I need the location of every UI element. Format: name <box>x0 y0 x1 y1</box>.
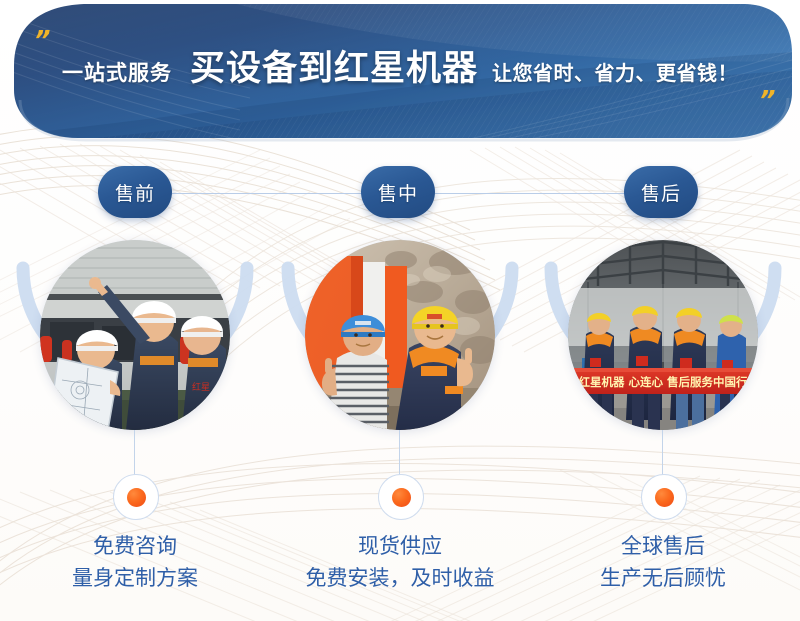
insale-photo-illustration <box>305 240 495 430</box>
insale-caption-line2: 免费安装，及时收益 <box>270 562 530 594</box>
service-card-aftersale: 红星机器 心连心 售后服务中国行 全球售后 生产无后顾忧 <box>533 220 793 620</box>
promo-page: 一站式服务 买设备到红星机器 让您省时、省力、更省钱！ ” ” 售前 售中 售后 <box>0 0 800 621</box>
banner-tail-text: 让您省时、省力、更省钱！ <box>492 57 738 86</box>
aftersale-caption: 全球售后 生产无后顾忧 <box>533 530 793 594</box>
aftersale-dot-marker <box>641 474 687 520</box>
step-badge-presale-label: 售前 <box>115 179 155 206</box>
insale-dot-marker <box>378 474 424 520</box>
step-badge-insale[interactable]: 售中 <box>361 166 435 218</box>
svg-text:红星: 红星 <box>192 381 210 393</box>
insale-caption-line1: 现货供应 <box>270 530 530 562</box>
orange-dot-icon <box>127 488 146 507</box>
insale-photo <box>305 240 495 430</box>
step-connector-2 <box>435 193 625 194</box>
orange-dot-icon <box>655 488 674 507</box>
banner-lead-text: 一站式服务 <box>62 57 172 87</box>
banner-slogan-text: 红星机器 心连心 售后服务中国行 <box>578 375 748 389</box>
presale-caption: 免费咨询 量身定制方案 <box>5 530 265 594</box>
presale-caption-line2: 量身定制方案 <box>5 562 265 594</box>
step-badge-aftersale-label: 售后 <box>641 179 681 206</box>
presale-photo-illustration: 红星 <box>40 240 230 430</box>
insale-caption: 现货供应 免费安装，及时收益 <box>270 530 530 594</box>
step-badge-presale[interactable]: 售前 <box>98 166 172 218</box>
step-connector-1 <box>172 193 362 194</box>
banner-main-title: 买设备到红星机器 <box>190 40 478 91</box>
service-card-presale: 红星 <box>5 220 265 620</box>
step-badge-insale-label: 售中 <box>378 179 418 206</box>
service-card-insale: 现货供应 免费安装，及时收益 <box>270 220 530 620</box>
header-banner: 一站式服务 买设备到红星机器 让您省时、省力、更省钱！ ” ” <box>0 0 800 150</box>
step-badge-aftersale[interactable]: 售后 <box>624 166 698 218</box>
presale-caption-line1: 免费咨询 <box>5 530 265 562</box>
aftersale-caption-line1: 全球售后 <box>533 530 793 562</box>
aftersale-caption-line2: 生产无后顾忧 <box>533 562 793 594</box>
step-indicator-row: 售前 售中 售后 <box>0 166 800 220</box>
presale-photo: 红星 <box>40 240 230 430</box>
orange-dot-icon <box>392 488 411 507</box>
aftersale-photo: 红星机器 心连心 售后服务中国行 <box>568 240 758 430</box>
presale-dot-marker <box>113 474 159 520</box>
banner-text-group: 一站式服务 买设备到红星机器 让您省时、省力、更省钱！ <box>0 0 800 138</box>
aftersale-photo-illustration: 红星机器 心连心 售后服务中国行 <box>568 240 758 430</box>
